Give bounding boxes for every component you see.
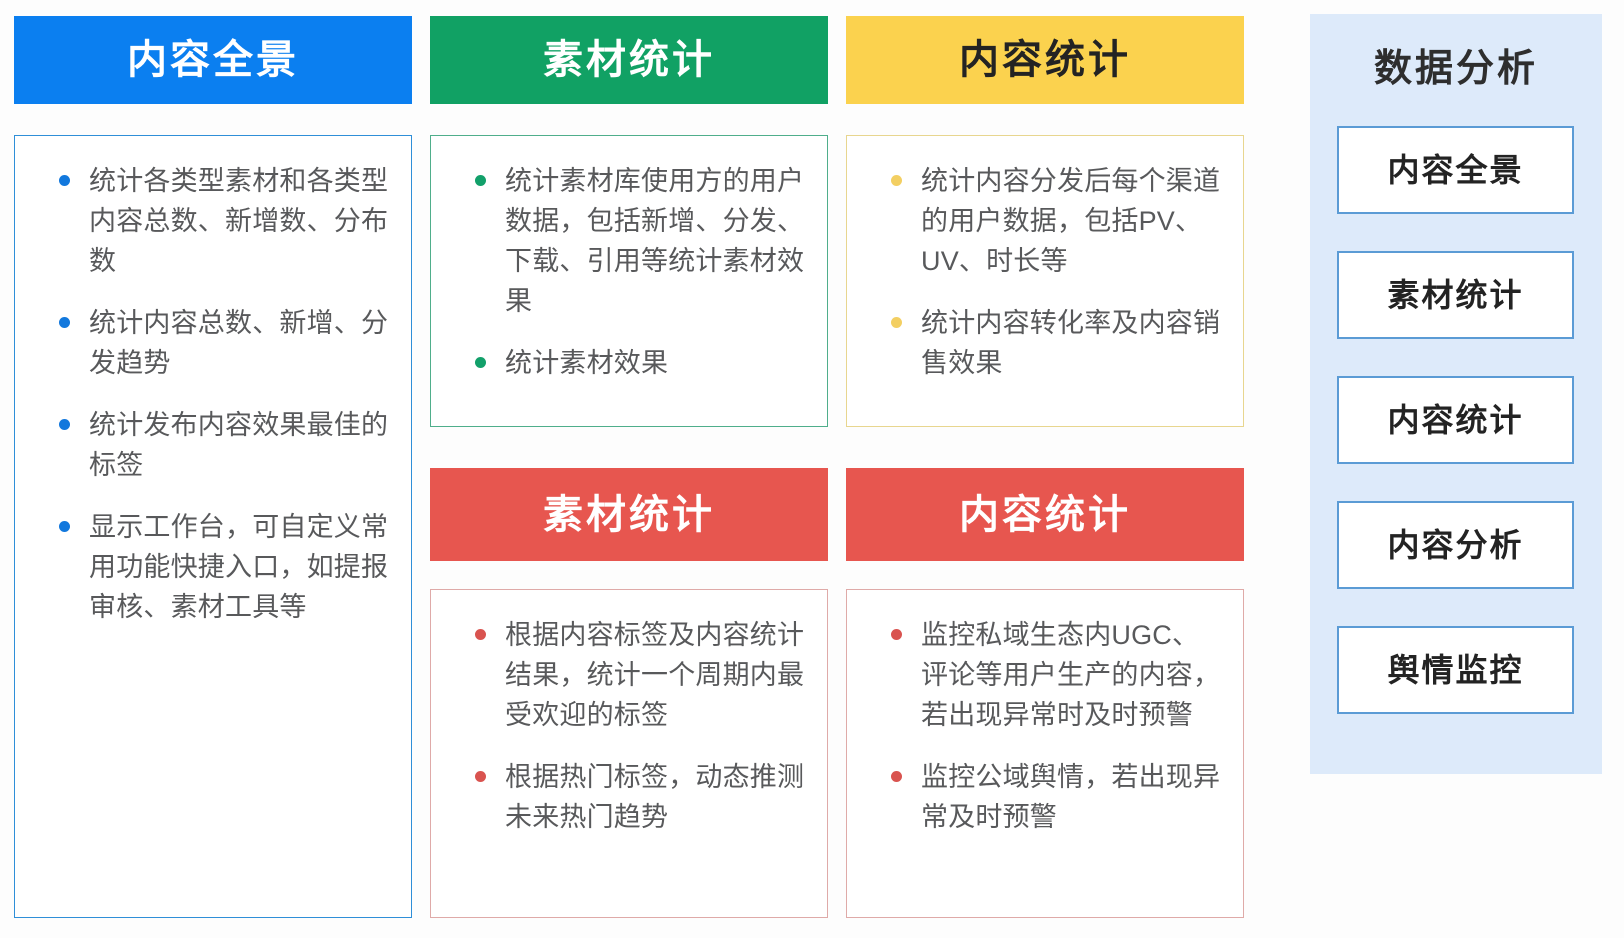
sidebar-item-label: 内容分析: [1387, 529, 1523, 561]
card-body-content-panorama: 统计各类型素材和各类型内容总数、新增数、分布数 统计内容总数、新增、分发趋势 统…: [14, 135, 412, 918]
list-item-text: 监控私域生态内UGC、评论等用户生产的内容，若出现异常时及时预警: [921, 620, 1220, 730]
card-body-content-statistics-2: 监控私域生态内UGC、评论等用户生产的内容，若出现异常时及时预警 监控公域舆情，…: [846, 589, 1244, 918]
list-item-text: 监控公域舆情，若出现异常及时预警: [921, 762, 1220, 832]
bullet-dot-icon: [891, 771, 902, 782]
card-title-text: 内容统计: [959, 495, 1131, 535]
bullet-list: 根据内容标签及内容统计结果，统计一个周期内最受欢迎的标签 根据热门标签，动态推测…: [449, 616, 809, 838]
list-item-text: 统计内容转化率及内容销售效果: [921, 308, 1220, 378]
list-item-text: 显示工作台，可自定义常用功能快捷入口，如提报审核、素材工具等: [89, 512, 388, 622]
bullet-dot-icon: [891, 629, 902, 640]
list-item: 统计各类型素材和各类型内容总数、新增数、分布数: [33, 162, 393, 282]
card-header-content-statistics: 内容统计: [846, 16, 1244, 104]
sidebar-item-material-statistics[interactable]: 素材统计: [1337, 251, 1574, 339]
card-header-content-statistics-2: 内容统计: [846, 468, 1244, 561]
card-title-text: 内容统计: [959, 40, 1131, 80]
list-item: 根据热门标签，动态推测未来热门趋势: [449, 758, 809, 838]
list-item: 统计内容转化率及内容销售效果: [865, 304, 1225, 384]
list-item: 监控私域生态内UGC、评论等用户生产的内容，若出现异常时及时预警: [865, 616, 1225, 736]
list-item-text: 统计发布内容效果最佳的标签: [89, 410, 388, 480]
bullet-dot-icon: [475, 357, 486, 368]
bullet-list: 统计各类型素材和各类型内容总数、新增数、分布数 统计内容总数、新增、分发趋势 统…: [33, 162, 393, 628]
list-item-text: 统计各类型素材和各类型内容总数、新增数、分布数: [89, 166, 388, 276]
card-body-material-statistics: 统计素材库使用方的用户数据，包括新增、分发、下载、引用等统计素材效果 统计素材效…: [430, 135, 828, 427]
bullet-list: 监控私域生态内UGC、评论等用户生产的内容，若出现异常时及时预警 监控公域舆情，…: [865, 616, 1225, 838]
sidebar-item-label: 素材统计: [1387, 279, 1523, 311]
list-item: 根据内容标签及内容统计结果，统计一个周期内最受欢迎的标签: [449, 616, 809, 736]
sidebar-item-label: 内容全景: [1387, 154, 1523, 186]
bullet-list: 统计素材库使用方的用户数据，包括新增、分发、下载、引用等统计素材效果 统计素材效…: [449, 162, 809, 384]
bullet-dot-icon: [891, 175, 902, 186]
list-item: 监控公域舆情，若出现异常及时预警: [865, 758, 1225, 838]
slide-canvas: 内容全景 统计各类型素材和各类型内容总数、新增数、分布数 统计内容总数、新增、分…: [0, 0, 1624, 938]
sidebar-item-content-panorama[interactable]: 内容全景: [1337, 126, 1574, 214]
bullet-dot-icon: [59, 175, 70, 186]
sidebar-item-content-analysis[interactable]: 内容分析: [1337, 501, 1574, 589]
card-header-material-statistics-2: 素材统计: [430, 468, 828, 561]
card-title-text: 内容全景: [127, 40, 299, 80]
sidebar-item-sentiment-monitoring[interactable]: 舆情监控: [1337, 626, 1574, 714]
bullet-dot-icon: [891, 317, 902, 328]
list-item-text: 根据热门标签，动态推测未来热门趋势: [505, 762, 804, 832]
card-title-text: 素材统计: [543, 495, 715, 535]
list-item-text: 统计素材效果: [505, 348, 668, 378]
list-item-text: 统计内容总数、新增、分发趋势: [89, 308, 388, 378]
sidebar-item-label: 舆情监控: [1387, 654, 1523, 686]
bullet-dot-icon: [59, 317, 70, 328]
card-body-material-statistics-2: 根据内容标签及内容统计结果，统计一个周期内最受欢迎的标签 根据热门标签，动态推测…: [430, 589, 828, 918]
bullet-dot-icon: [475, 629, 486, 640]
bullet-dot-icon: [59, 419, 70, 430]
bullet-dot-icon: [475, 175, 486, 186]
sidebar-item-content-statistics[interactable]: 内容统计: [1337, 376, 1574, 464]
list-item: 统计内容分发后每个渠道的用户数据，包括PV、UV、时长等: [865, 162, 1225, 282]
sidebar-title: 数据分析: [1310, 50, 1602, 88]
card-title-text: 素材统计: [543, 40, 715, 80]
list-item-text: 统计内容分发后每个渠道的用户数据，包括PV、UV、时长等: [921, 166, 1220, 276]
list-item: 统计内容总数、新增、分发趋势: [33, 304, 393, 384]
card-header-material-statistics: 素材统计: [430, 16, 828, 104]
bullet-list: 统计内容分发后每个渠道的用户数据，包括PV、UV、时长等 统计内容转化率及内容销…: [865, 162, 1225, 384]
data-analysis-sidebar: 数据分析 内容全景 素材统计 内容统计 内容分析 舆情监控: [1310, 14, 1602, 774]
list-item-text: 根据内容标签及内容统计结果，统计一个周期内最受欢迎的标签: [505, 620, 804, 730]
sidebar-item-label: 内容统计: [1387, 404, 1523, 436]
list-item: 统计素材效果: [449, 344, 809, 384]
list-item-text: 统计素材库使用方的用户数据，包括新增、分发、下载、引用等统计素材效果: [505, 166, 804, 316]
list-item: 统计素材库使用方的用户数据，包括新增、分发、下载、引用等统计素材效果: [449, 162, 809, 322]
card-body-content-statistics: 统计内容分发后每个渠道的用户数据，包括PV、UV、时长等 统计内容转化率及内容销…: [846, 135, 1244, 427]
card-header-content-panorama: 内容全景: [14, 16, 412, 104]
bullet-dot-icon: [59, 521, 70, 532]
list-item: 显示工作台，可自定义常用功能快捷入口，如提报审核、素材工具等: [33, 508, 393, 628]
bullet-dot-icon: [475, 771, 486, 782]
list-item: 统计发布内容效果最佳的标签: [33, 406, 393, 486]
